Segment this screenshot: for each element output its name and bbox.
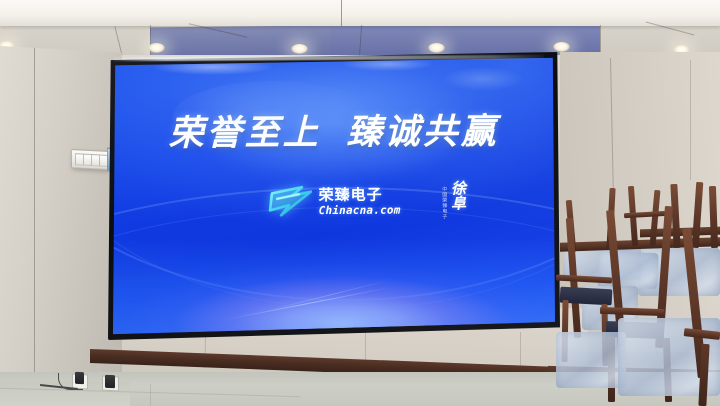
left-wall xyxy=(0,46,122,398)
ceiling-hanger-rod xyxy=(341,0,342,26)
company-name-en: Chinacna.com xyxy=(319,205,401,216)
wall-seam xyxy=(34,48,35,400)
power-adapter xyxy=(105,375,115,389)
ceiling-downlight xyxy=(553,42,570,52)
company-name-block: 荣臻电子 Chinacna.com xyxy=(319,188,401,216)
plastic-wrapped-bundle xyxy=(597,251,658,289)
light-switch-panel[interactable] xyxy=(71,149,109,170)
slide-content: 荣誉至上臻诚共赢 xyxy=(113,57,555,335)
company-logo-lockup: 荣臻电子 Chinacna.com xyxy=(113,184,555,221)
screen-surface[interactable]: 荣誉至上臻诚共赢 xyxy=(113,57,555,335)
headline-right: 臻诚共赢 xyxy=(346,111,498,153)
plastic-wrapped-bundle xyxy=(556,332,626,388)
conference-room-screenshot: 荣誉至上臻诚共赢 xyxy=(0,0,720,406)
slide-headline: 荣誉至上臻诚共赢 xyxy=(113,114,555,152)
ceiling-soffit xyxy=(0,0,720,26)
led-video-wall[interactable]: 荣誉至上臻诚共赢 xyxy=(108,52,560,340)
signature-side-text: 中国荣臻电子 xyxy=(441,186,447,219)
floor-tile-line xyxy=(150,384,151,406)
headline-left: 荣誉至上 xyxy=(168,112,320,154)
wall-seam xyxy=(690,60,691,180)
calligraphy-signature: 中国荣臻电子 徐阜 xyxy=(441,180,465,219)
chinacna-arrow-logo-icon xyxy=(267,185,311,219)
company-name-cn: 荣臻电子 xyxy=(319,188,383,203)
signature-name: 徐阜 xyxy=(449,180,465,210)
